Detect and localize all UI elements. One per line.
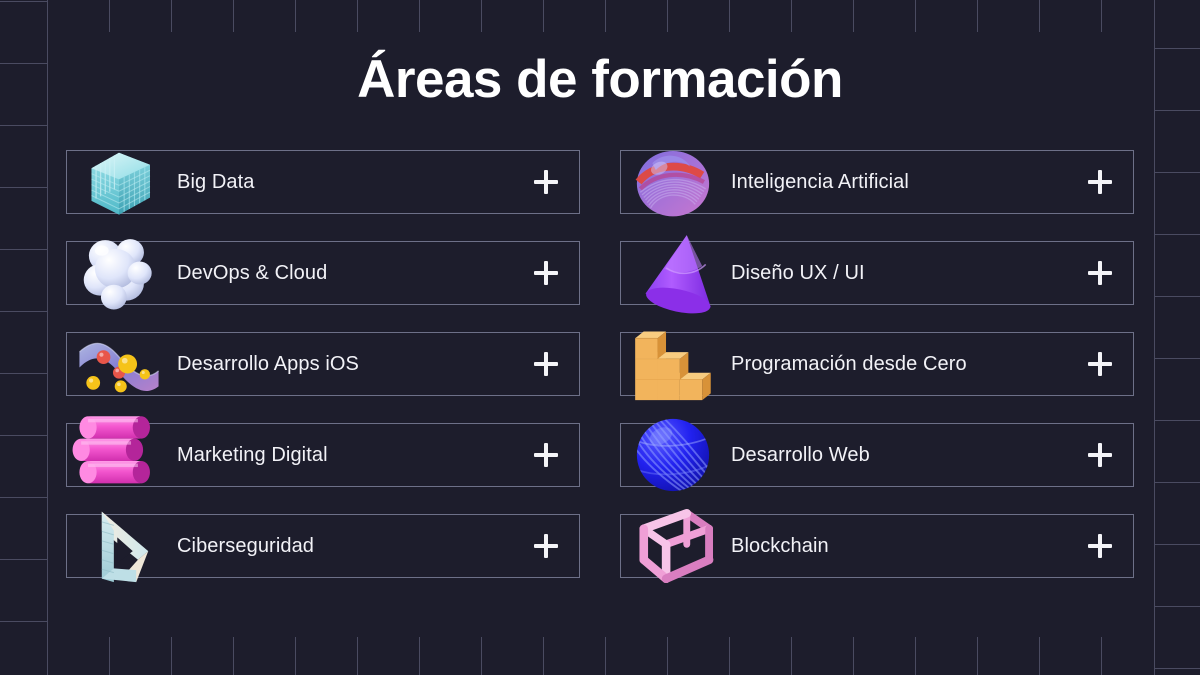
grid-tick-bottom: [357, 637, 358, 675]
grid-tick-bottom: [419, 637, 420, 675]
grid-tick-top: [853, 0, 854, 32]
grid-tick-top: [295, 0, 296, 32]
grid-tick-top: [357, 0, 358, 32]
topic-card-programacion-desde-cero[interactable]: Programación desde Cero: [620, 332, 1134, 396]
topic-card-desarrollo-apps-ios[interactable]: Desarrollo Apps iOS: [66, 332, 580, 396]
topic-card-label: Marketing Digital: [177, 444, 328, 467]
grid-rung-left: [0, 249, 47, 250]
grid-tick-bottom: [481, 637, 482, 675]
expand-plus-icon[interactable]: [1088, 534, 1112, 558]
grid-tick-bottom: [977, 637, 978, 675]
expand-plus-icon[interactable]: [534, 170, 558, 194]
expand-plus-icon[interactable]: [534, 443, 558, 467]
swirl-torus-icon: [625, 138, 721, 226]
topic-card-big-data[interactable]: Big Data: [66, 150, 580, 214]
topic-card-desarrollo-web[interactable]: Desarrollo Web: [620, 423, 1134, 487]
grid-tick-top: [915, 0, 916, 32]
purple-cone-icon: [625, 229, 721, 317]
grid-rung-right: [1154, 296, 1200, 297]
ribbon-particles-icon: [71, 320, 167, 408]
topic-card-ciberseguridad[interactable]: Ciberseguridad: [66, 514, 580, 578]
grid-tick-top: [171, 0, 172, 32]
grid-rung-left: [0, 621, 47, 622]
grid-tick-bottom: [233, 637, 234, 675]
grid-tick-top: [481, 0, 482, 32]
grid-tick-bottom: [915, 637, 916, 675]
expand-plus-icon[interactable]: [1088, 261, 1112, 285]
topic-card-grid: Big DataInteligencia ArtificialDevOps & …: [66, 150, 1134, 578]
grid-tick-top: [791, 0, 792, 32]
grid-tick-bottom: [729, 637, 730, 675]
grid-rung-right: [1154, 544, 1200, 545]
grid-tick-top: [543, 0, 544, 32]
grid-tick-bottom: [1101, 637, 1102, 675]
page-title: Áreas de formación: [0, 52, 1200, 108]
slide-canvas: Áreas de formación Big DataInteligencia …: [0, 0, 1200, 675]
topic-card-label: Desarrollo Web: [731, 444, 870, 467]
grid-rung-left: [0, 125, 47, 126]
topic-card-blockchain[interactable]: Blockchain: [620, 514, 1134, 578]
grid-tick-bottom: [109, 637, 110, 675]
grid-tick-top: [109, 0, 110, 32]
grid-rung-right: [1154, 234, 1200, 235]
voxel-cube-icon: [71, 138, 167, 226]
topic-card-label: Blockchain: [731, 535, 829, 558]
grid-tick-top: [419, 0, 420, 32]
grid-tick-top: [1039, 0, 1040, 32]
grid-rung-right: [1154, 420, 1200, 421]
grid-rung-left: [0, 497, 47, 498]
topic-card-inteligencia-artificial[interactable]: Inteligencia Artificial: [620, 150, 1134, 214]
grid-rung-left: [0, 435, 47, 436]
grid-rung-left: [0, 311, 47, 312]
expand-plus-icon[interactable]: [1088, 170, 1112, 194]
grid-tick-bottom: [853, 637, 854, 675]
topic-card-label: Diseño UX / UI: [731, 262, 865, 285]
grid-tick-bottom: [1039, 637, 1040, 675]
grid-rung-left: [0, 559, 47, 560]
grid-tick-bottom: [667, 637, 668, 675]
topic-card-marketing-digital[interactable]: Marketing Digital: [66, 423, 580, 487]
orange-blocks-icon: [625, 320, 721, 408]
expand-plus-icon[interactable]: [534, 352, 558, 376]
grid-rung-left: [0, 373, 47, 374]
grid-rung-left: [0, 1, 47, 2]
expand-plus-icon[interactable]: [534, 534, 558, 558]
topic-card-devops-cloud[interactable]: DevOps & Cloud: [66, 241, 580, 305]
grid-tick-top: [667, 0, 668, 32]
expand-plus-icon[interactable]: [534, 261, 558, 285]
penrose-triangle-icon: [71, 502, 167, 590]
grid-rung-right: [1154, 606, 1200, 607]
topic-card-label: Ciberseguridad: [177, 535, 314, 558]
wireframe-cube-icon: [625, 502, 721, 590]
grid-rung-right: [1154, 358, 1200, 359]
grid-tick-top: [977, 0, 978, 32]
grid-rung-right: [1154, 110, 1200, 111]
topic-card-label: Inteligencia Artificial: [731, 171, 909, 194]
grid-rung-right: [1154, 482, 1200, 483]
pink-cylinders-icon: [71, 411, 167, 499]
grid-tick-top: [1101, 0, 1102, 32]
topic-card-label: DevOps & Cloud: [177, 262, 327, 285]
topic-card-diseno-ux-ui[interactable]: Diseño UX / UI: [620, 241, 1134, 305]
topic-card-label: Programación desde Cero: [731, 353, 967, 376]
grid-tick-bottom: [791, 637, 792, 675]
cloud-blob-icon: [71, 229, 167, 317]
grid-tick-bottom: [543, 637, 544, 675]
grid-rung-right: [1154, 172, 1200, 173]
topic-card-label: Big Data: [177, 171, 255, 194]
grid-tick-top: [729, 0, 730, 32]
grid-tick-bottom: [171, 637, 172, 675]
grid-tick-bottom: [605, 637, 606, 675]
grid-tick-top: [605, 0, 606, 32]
grid-rung-right: [1154, 48, 1200, 49]
blue-sphere-icon: [625, 411, 721, 499]
grid-tick-top: [233, 0, 234, 32]
grid-rung-right: [1154, 668, 1200, 669]
grid-tick-bottom: [295, 637, 296, 675]
grid-rung-left: [0, 187, 47, 188]
topic-card-label: Desarrollo Apps iOS: [177, 353, 359, 376]
expand-plus-icon[interactable]: [1088, 352, 1112, 376]
expand-plus-icon[interactable]: [1088, 443, 1112, 467]
